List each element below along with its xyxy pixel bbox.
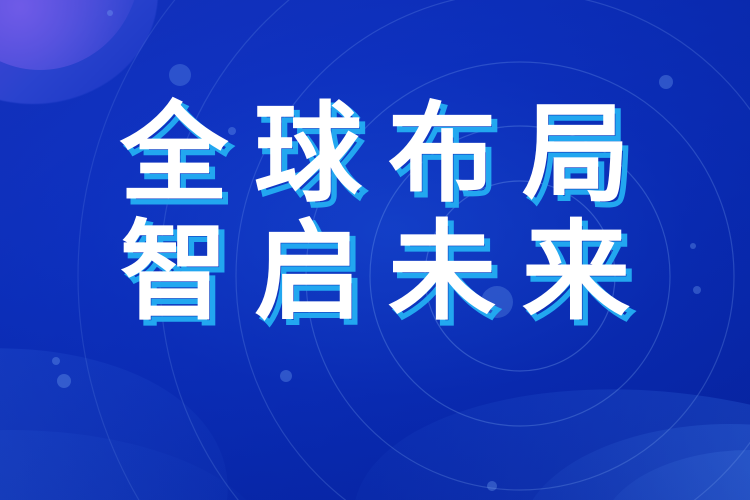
headline-line-1: 全球布局 全球布局: [0, 96, 750, 214]
orbit-dot-3: [52, 357, 60, 365]
headline-line-1-text: 全球布局: [94, 96, 656, 214]
headline-line-2-text: 智启未来: [94, 214, 656, 332]
orbit-dot-10: [107, 10, 113, 16]
orbit-dot-5: [280, 370, 292, 382]
headline-line-1-inner: 全球布局 全球布局: [94, 96, 656, 214]
orbit-dot-4: [57, 374, 71, 388]
orbit-dot-1: [659, 75, 673, 89]
headline-line-2: 智启未来 智启未来: [0, 214, 750, 332]
orbit-dot-0: [169, 64, 191, 86]
orbit-dot-9: [487, 481, 497, 491]
poster-canvas: 全球布局 全球布局 智启未来 智启未来: [0, 0, 750, 500]
headline-line-2-inner: 智启未来 智启未来: [94, 214, 656, 332]
headline-block: 全球布局 全球布局 智启未来 智启未来: [0, 96, 750, 332]
